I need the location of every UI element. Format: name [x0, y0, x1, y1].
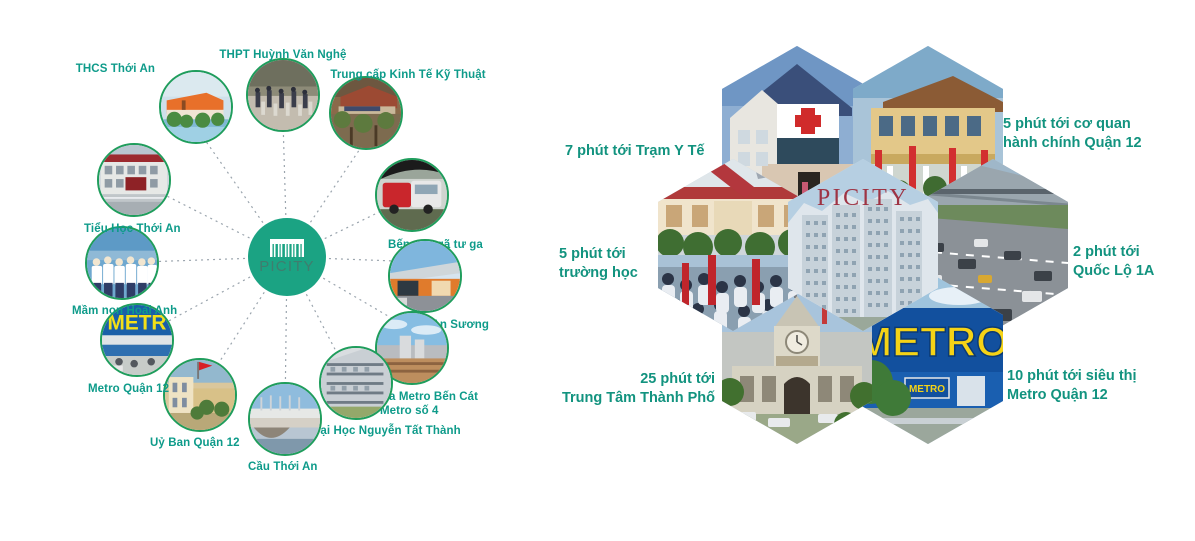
university-photo	[319, 346, 393, 420]
radial-node-label: Cầu Thới An	[248, 460, 318, 474]
school-crowd-photo	[246, 58, 320, 132]
radial-node-label: Trung cấp Kinh Tế Kỹ Thuật	[330, 68, 485, 82]
svg-text:METRO: METRO	[909, 384, 945, 395]
an-suong-station-photo	[388, 239, 462, 313]
primary-school-photo	[97, 143, 171, 217]
building-barcode-icon	[270, 239, 304, 257]
radial-node-label: Uỷ Ban Quận 12	[150, 436, 240, 450]
radial-amenities-diagram: PICITY THCS Thới An	[0, 0, 560, 541]
radial-node-label: Ga Metro Bến Cát Metro số 4	[380, 390, 490, 418]
hex-label-administration: 5 phút tới cơ quan hành chính Quận 12	[1003, 115, 1142, 154]
district-committee-photo	[163, 358, 237, 432]
bridge-photo	[248, 382, 322, 456]
svg-text:METRO: METRO	[857, 318, 1003, 365]
hexagon-amenities-diagram: 7 phút tới Trạm Y Tế	[545, 0, 1195, 541]
vocational-school-photo	[329, 76, 403, 150]
kindergarten-photo	[85, 226, 159, 300]
hex-label-clinic: 7 phút tới Trạm Y Tế	[565, 142, 705, 161]
radial-node-label: Metro Quận 12	[88, 382, 169, 396]
radial-node-label: THCS Thới An	[76, 62, 155, 76]
school-building-photo	[159, 70, 233, 144]
radial-node-label: THPT Huỳnh Văn Nghệ	[219, 48, 346, 62]
radial-node-label: Đại Học Nguyễn Tất Thành	[312, 424, 461, 438]
hex-label-ben-thanh: 25 phút tới Trung Tâm Thành Phố	[555, 370, 715, 409]
hex-label-school: 5 phút tới trường học	[559, 245, 638, 284]
radial-node-label: Mầm non Hoài Anh	[72, 304, 177, 318]
hub-title: PICITY	[259, 258, 315, 275]
radial-center-hub: PICITY	[248, 218, 326, 296]
hex-label-metro-store: 10 phút tới siêu thị Metro Quận 12	[1007, 367, 1137, 406]
radial-node-label: Tiểu Học Thới An	[84, 222, 181, 236]
bus-station-photo	[375, 158, 449, 232]
hex-label-highway: 2 phút tới Quốc Lộ 1A	[1073, 243, 1154, 282]
